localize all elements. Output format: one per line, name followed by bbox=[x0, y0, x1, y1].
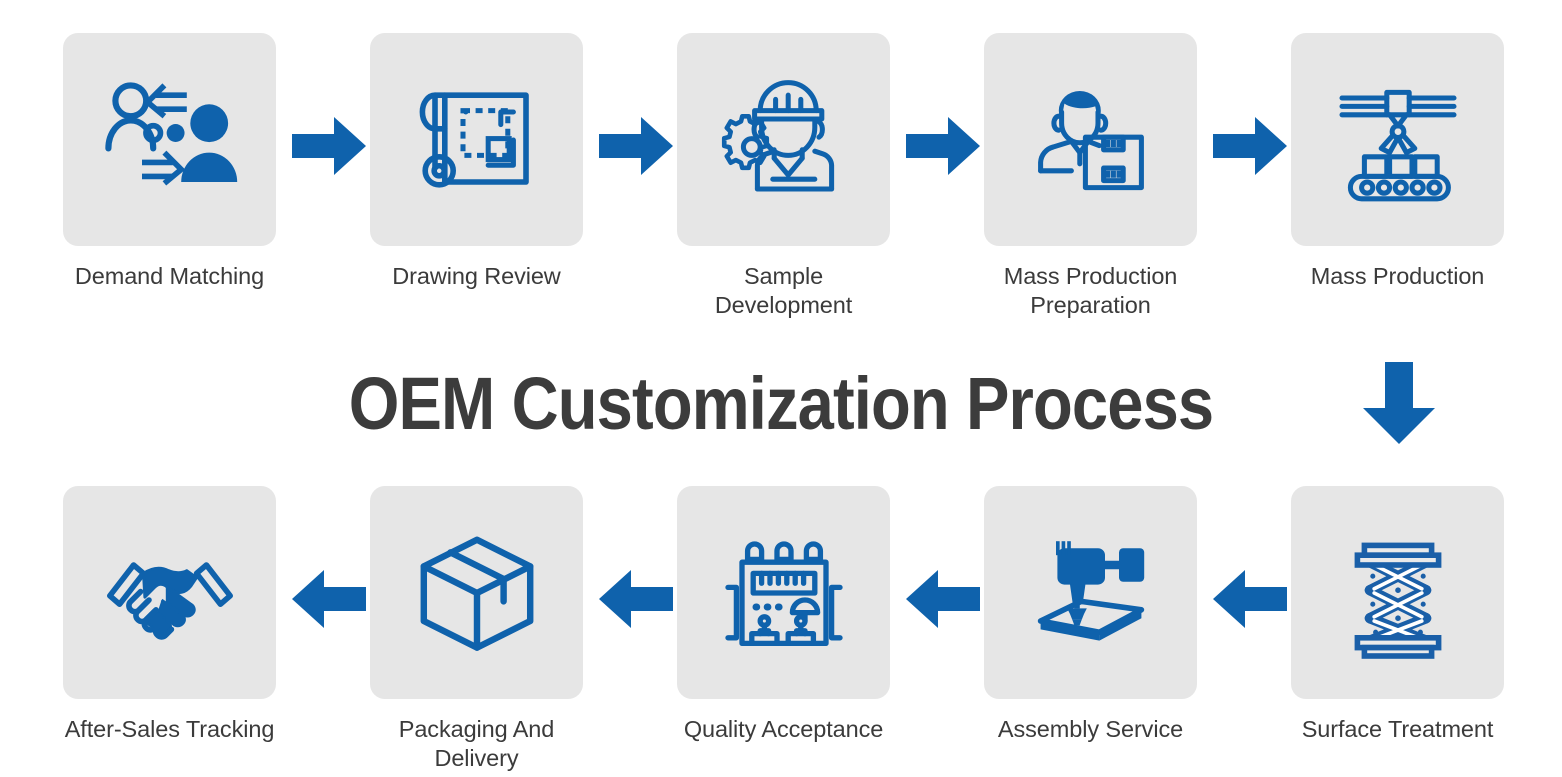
arrow-left-icon bbox=[292, 570, 366, 628]
page-title: OEM Customization Process bbox=[94, 361, 1469, 446]
arrow-sample-to-massprep bbox=[906, 117, 980, 175]
drill-screw-icon bbox=[1021, 523, 1161, 663]
scissor-lift-icon bbox=[1328, 523, 1468, 663]
step-label: Quality Acceptance bbox=[677, 715, 890, 744]
package-box-icon bbox=[407, 523, 547, 663]
handshake-icon bbox=[100, 523, 240, 663]
step-card bbox=[984, 486, 1197, 699]
inspection-panel-icon bbox=[714, 523, 854, 663]
arrow-right-icon bbox=[906, 117, 980, 175]
step-mass-production[interactable]: Mass Production bbox=[1291, 33, 1504, 291]
worker-carton-icon bbox=[1021, 70, 1161, 210]
engineer-gear-icon bbox=[714, 70, 854, 210]
step-card bbox=[677, 33, 890, 246]
step-surface-treatment[interactable]: Surface Treatment bbox=[1291, 486, 1504, 744]
arrow-right-icon bbox=[599, 117, 673, 175]
step-label: Packaging And Delivery bbox=[370, 715, 583, 772]
step-label: After-Sales Tracking bbox=[63, 715, 276, 744]
arrow-surface-to-assembly bbox=[1213, 570, 1287, 628]
arrow-right-icon bbox=[292, 117, 366, 175]
step-card bbox=[984, 33, 1197, 246]
step-card bbox=[370, 33, 583, 246]
arrow-assembly-to-quality bbox=[906, 570, 980, 628]
step-label: Demand Matching bbox=[63, 262, 276, 291]
step-card bbox=[677, 486, 890, 699]
step-demand-matching[interactable]: Demand Matching bbox=[63, 33, 276, 291]
arrow-packaging-to-after bbox=[292, 570, 366, 628]
step-card bbox=[370, 486, 583, 699]
step-mass-production-preparation[interactable]: Mass Production Preparation bbox=[984, 33, 1197, 319]
step-assembly-service[interactable]: Assembly Service bbox=[984, 486, 1197, 744]
conveyor-robot-icon bbox=[1328, 70, 1468, 210]
step-after-sales-tracking[interactable]: After-Sales Tracking bbox=[63, 486, 276, 744]
step-label: Sample Development bbox=[677, 262, 890, 319]
step-label: Drawing Review bbox=[370, 262, 583, 291]
process-diagram: Demand Matching Draw bbox=[0, 0, 1562, 777]
arrow-left-icon bbox=[599, 570, 673, 628]
arrow-quality-to-packaging bbox=[599, 570, 673, 628]
step-card bbox=[63, 486, 276, 699]
step-label: Mass Production Preparation bbox=[984, 262, 1197, 319]
blueprint-roll-icon bbox=[407, 70, 547, 210]
arrow-massprep-to-mass bbox=[1213, 117, 1287, 175]
step-label: Mass Production bbox=[1291, 262, 1504, 291]
step-quality-acceptance[interactable]: Quality Acceptance bbox=[677, 486, 890, 744]
step-label: Assembly Service bbox=[984, 715, 1197, 744]
step-card bbox=[1291, 33, 1504, 246]
step-label: Surface Treatment bbox=[1291, 715, 1504, 744]
people-exchange-icon bbox=[100, 70, 240, 210]
step-card bbox=[1291, 486, 1504, 699]
arrow-left-icon bbox=[1213, 570, 1287, 628]
arrow-demand-to-drawing bbox=[292, 117, 366, 175]
arrow-drawing-to-sample bbox=[599, 117, 673, 175]
step-drawing-review[interactable]: Drawing Review bbox=[370, 33, 583, 291]
arrow-right-icon bbox=[1213, 117, 1287, 175]
step-packaging-and-delivery[interactable]: Packaging And Delivery bbox=[370, 486, 583, 772]
step-sample-development[interactable]: Sample Development bbox=[677, 33, 890, 319]
arrow-left-icon bbox=[906, 570, 980, 628]
step-card bbox=[63, 33, 276, 246]
